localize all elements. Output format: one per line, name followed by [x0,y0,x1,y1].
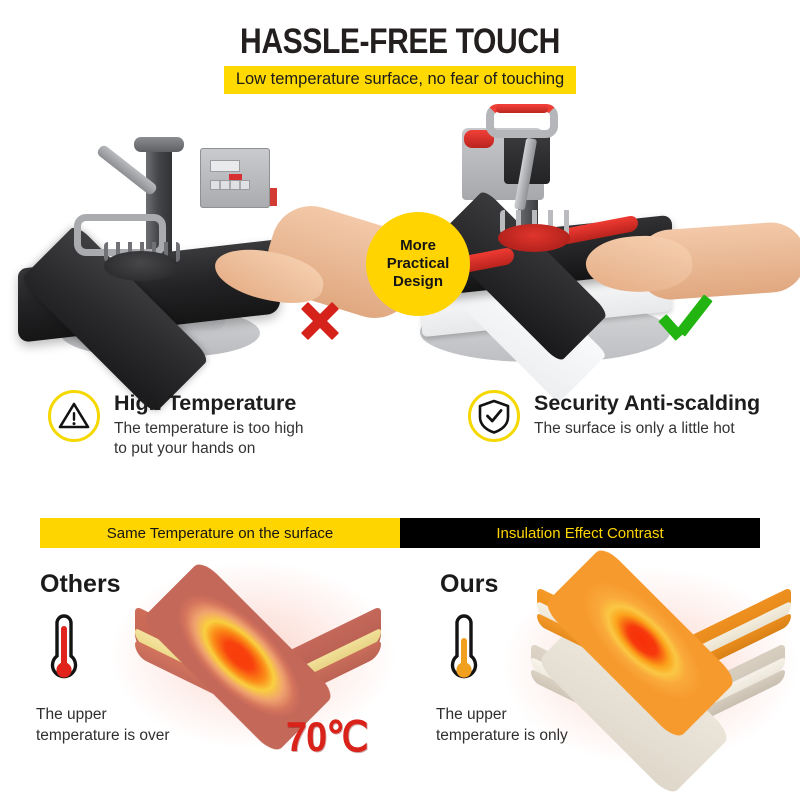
insulated-plate-illustration [505,570,785,750]
feature-high-temperature: High Temperature The temperature is too … [48,390,304,459]
feature-description: The temperature is too high to put your … [114,419,304,460]
feature-text: High Temperature The temperature is too … [114,390,304,459]
banner-right-label: Insulation Effect Contrast [400,518,760,548]
thermometer-warm-icon [447,610,481,690]
comparison-ours: Ours The upper temperature is only [400,556,800,800]
feature-text: Security Anti-scalding The surface is on… [534,390,760,439]
power-switch [270,188,277,206]
shield-check-icon [468,390,520,442]
badge-line-2: Practical [387,255,450,273]
comparison-banner: Same Temperature on the surface Insulati… [40,518,760,548]
infographic-page: HASSLE-FREE TOUCH Low temperature surfac… [0,0,800,800]
feature-title: High Temperature [114,391,304,416]
press-handle-grip [496,105,548,113]
feature-title: Security Anti-scalding [534,391,760,416]
comparison-label: Ours [440,570,498,599]
subtitle-banner: Low temperature surface, no fear of touc… [0,66,800,94]
banner-left-label: Same Temperature on the surface [40,518,400,548]
warning-triangle-icon [48,390,100,442]
badge-line-3: Design [393,273,443,291]
badge-line-1: More [400,237,436,255]
control-box [200,148,270,208]
green-check-mark-icon [656,300,714,348]
page-title: HASSLE-FREE TOUCH [56,22,744,62]
red-x-mark-icon [298,298,342,342]
press-pressure-knob [134,137,184,152]
platen-dial [498,224,570,252]
comparison-label: Others [40,570,121,599]
comparison-others: Others The upper temperature is over 70℃ [0,556,400,800]
page-subtitle: Low temperature surface, no fear of touc… [224,66,576,94]
temperature-value: 70℃ [286,716,368,758]
competitor-press-image [0,104,400,384]
hot-plate-illustration [115,574,385,724]
control-buttons [210,180,250,190]
control-screen [210,160,240,172]
more-practical-design-badge: More Practical Design [366,212,470,316]
platen-dial [104,251,178,281]
feature-anti-scalding: Security Anti-scalding The surface is on… [468,390,760,442]
thermometer-hot-icon [47,610,81,690]
feature-description: The surface is only a little hot [534,419,760,439]
